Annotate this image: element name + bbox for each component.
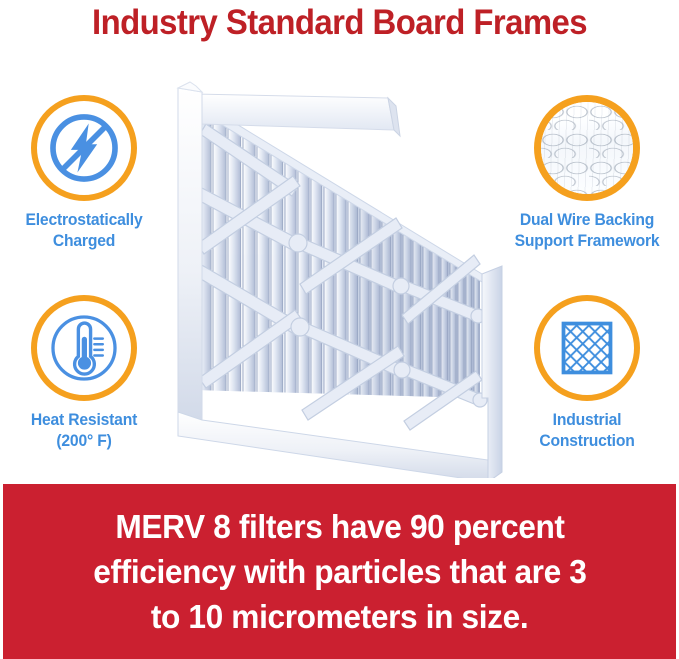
page-title: Industry Standard Board Frames xyxy=(20,2,658,44)
caption-line-1: Industrial xyxy=(506,410,668,431)
caption-line-1: Dual Wire Backing xyxy=(506,210,668,231)
caption-line-2: Charged xyxy=(3,231,165,252)
feature-ring-industrial-construction xyxy=(534,295,640,401)
feature-caption-electrostatically-charged: Electrostatically Charged xyxy=(3,210,165,252)
lattice-grid-icon xyxy=(540,301,634,395)
caption-line-1: Electrostatically xyxy=(3,210,165,231)
filter-bottom-frame xyxy=(178,412,502,478)
feature-ring-heat-resistant xyxy=(31,295,137,401)
banner-line-1: MERV 8 filters have 90 percent xyxy=(115,504,564,549)
banner-line-2: efficiency with particles that are 3 xyxy=(93,549,586,594)
feature-caption-heat-resistant: Heat Resistant (200° F) xyxy=(3,410,165,452)
feature-caption-dual-wire-backing: Dual Wire Backing Support Framework xyxy=(506,210,668,252)
product-image-pleated-air-filter xyxy=(150,68,520,478)
feature-caption-industrial-construction: Industrial Construction xyxy=(506,410,668,452)
feature-ring-dual-wire-backing xyxy=(534,95,640,201)
banner-line-3: to 10 micrometers in size. xyxy=(151,594,528,639)
feature-dual-wire-backing: Dual Wire Backing Support Framework xyxy=(502,95,672,252)
caption-line-2: (200° F) xyxy=(3,431,165,452)
caption-line-2: Support Framework xyxy=(506,231,668,252)
feature-ring-electrostatically-charged xyxy=(31,95,137,201)
no-lightning-bolt-icon xyxy=(37,101,131,195)
thermometer-icon xyxy=(37,301,131,395)
merv-rating-banner: MERV 8 filters have 90 percent efficienc… xyxy=(3,484,676,659)
infographic-root: Industry Standard Board Frames xyxy=(0,0,679,659)
feature-heat-resistant: Heat Resistant (200° F) xyxy=(0,295,169,452)
caption-line-2: Construction xyxy=(506,431,668,452)
wire-mesh-photo-icon xyxy=(541,102,633,194)
feature-industrial-construction: Industrial Construction xyxy=(502,295,672,452)
caption-line-1: Heat Resistant xyxy=(3,410,165,431)
feature-electrostatically-charged: Electrostatically Charged xyxy=(0,95,169,252)
filter-right-endcap xyxy=(482,266,502,478)
filter-left-frame xyxy=(178,82,202,420)
